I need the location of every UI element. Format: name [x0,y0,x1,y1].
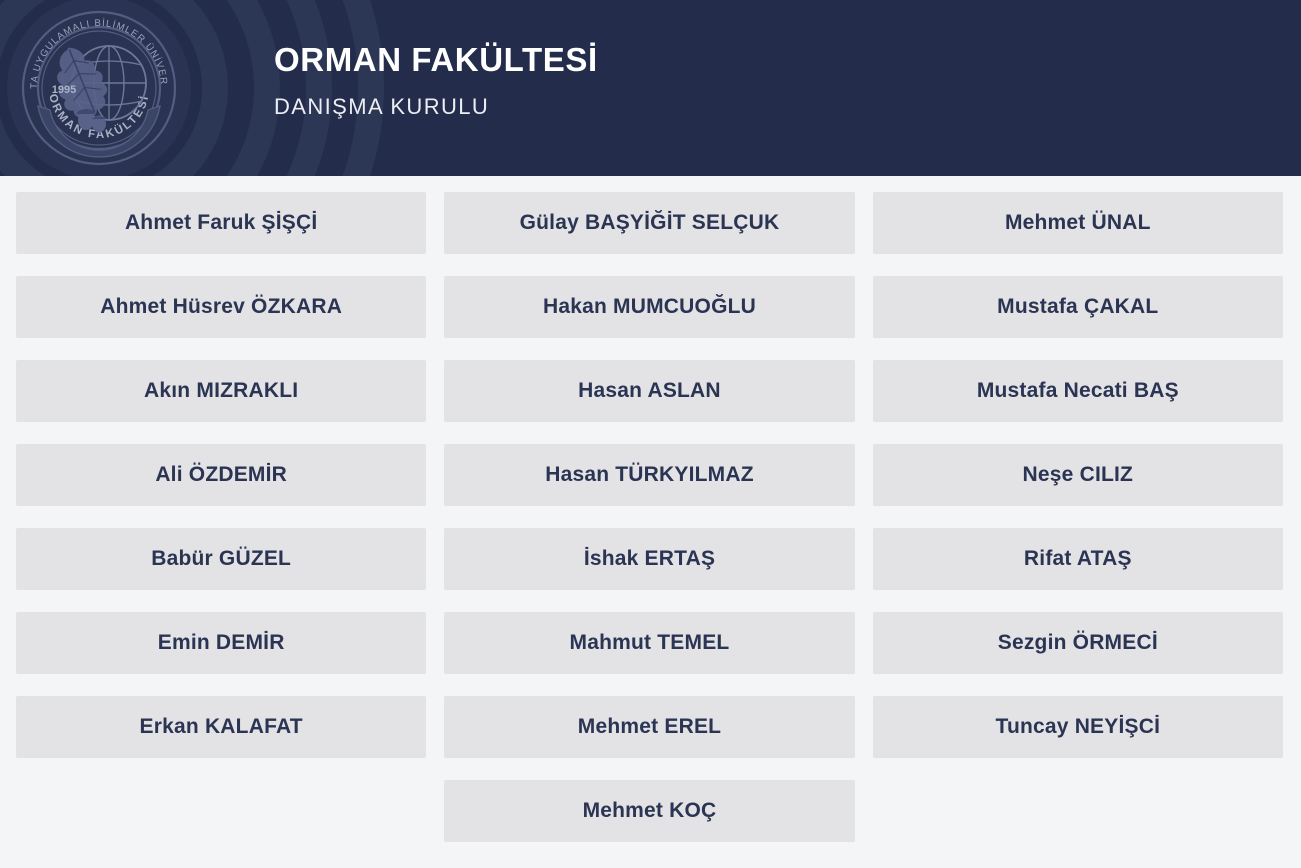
member-name: Rifat ATAŞ [1024,547,1132,571]
member-name: Mehmet KOÇ [583,799,717,823]
member-name: Ahmet Hüsrev ÖZKARA [100,295,342,319]
member-card[interactable]: Hasan ASLAN [444,360,854,422]
member-card[interactable]: Sezgin ÖRMECİ [873,612,1283,674]
member-name: Mahmut TEMEL [570,631,730,655]
member-name: Sezgin ÖRMECİ [998,631,1158,655]
member-name: Mehmet ÜNAL [1005,211,1151,235]
member-card[interactable]: Mehmet KOÇ [444,780,854,842]
member-column-2: Gülay BAŞYİĞİT SELÇUKHakan MUMCUOĞLUHasa… [444,192,854,842]
member-name: Erkan KALAFAT [140,715,303,739]
member-card[interactable]: Ahmet Hüsrev ÖZKARA [16,276,426,338]
member-name: Gülay BAŞYİĞİT SELÇUK [520,211,780,235]
member-card[interactable]: Emin DEMİR [16,612,426,674]
member-name: Mustafa Necati BAŞ [977,379,1179,403]
member-card[interactable]: Mehmet ÜNAL [873,192,1283,254]
member-column-1: Ahmet Faruk ŞİŞÇİAhmet Hüsrev ÖZKARAAkın… [16,192,426,758]
page-header: ISPARTA UYGULAMALI BİLİMLER ÜNİVERSİTESİ… [0,0,1301,176]
page-subtitle: DANIŞMA KURULU [274,92,598,122]
member-column-3: Mehmet ÜNALMustafa ÇAKALMustafa Necati B… [873,192,1283,758]
member-card[interactable]: Babür GÜZEL [16,528,426,590]
member-card[interactable]: İshak ERTAŞ [444,528,854,590]
member-card[interactable]: Akın MIZRAKLI [16,360,426,422]
member-name: Neşe CILIZ [1023,463,1134,487]
member-card[interactable]: Mahmut TEMEL [444,612,854,674]
member-card[interactable]: Hakan MUMCUOĞLU [444,276,854,338]
member-name: Akın MIZRAKLI [144,379,298,403]
page-title: ORMAN FAKÜLTESİ [274,40,598,80]
member-card[interactable]: Rifat ATAŞ [873,528,1283,590]
member-card[interactable]: Ali ÖZDEMİR [16,444,426,506]
member-name: Hasan ASLAN [578,379,721,403]
member-name: İshak ERTAŞ [584,547,715,571]
member-card[interactable]: Gülay BAŞYİĞİT SELÇUK [444,192,854,254]
member-card[interactable]: Neşe CILIZ [873,444,1283,506]
member-name: Ali ÖZDEMİR [155,463,287,487]
university-seal-logo: ISPARTA UYGULAMALI BİLİMLER ÜNİVERSİTESİ… [20,9,178,167]
header-title-block: ORMAN FAKÜLTESİ DANIŞMA KURULU [274,40,598,122]
member-name: Mustafa ÇAKAL [997,295,1158,319]
member-name: Mehmet EREL [578,715,721,739]
member-name: Hasan TÜRKYILMAZ [545,463,754,487]
member-card[interactable]: Mustafa ÇAKAL [873,276,1283,338]
member-card[interactable]: Erkan KALAFAT [16,696,426,758]
member-name: Ahmet Faruk ŞİŞÇİ [125,211,317,235]
advisory-board-member-grid: Ahmet Faruk ŞİŞÇİAhmet Hüsrev ÖZKARAAkın… [0,176,1301,842]
member-card[interactable]: Hasan TÜRKYILMAZ [444,444,854,506]
member-name: Emin DEMİR [158,631,285,655]
member-card[interactable]: Mehmet EREL [444,696,854,758]
member-card[interactable]: Mustafa Necati BAŞ [873,360,1283,422]
member-name: Tuncay NEYİŞCİ [996,715,1161,739]
member-name: Hakan MUMCUOĞLU [543,295,756,319]
member-card[interactable]: Tuncay NEYİŞCİ [873,696,1283,758]
member-name: Babür GÜZEL [151,547,291,571]
svg-text:1995: 1995 [52,84,76,96]
member-card[interactable]: Ahmet Faruk ŞİŞÇİ [16,192,426,254]
